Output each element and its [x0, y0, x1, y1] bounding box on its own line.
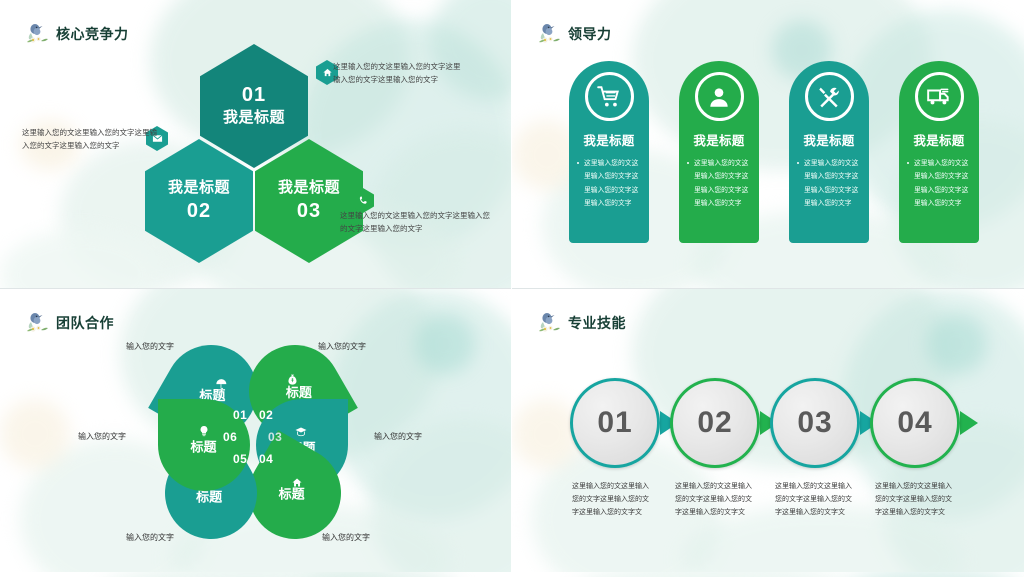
hexagon-01-number: 01 — [242, 85, 266, 106]
step-number-03: 03 — [797, 406, 832, 440]
slide-title-text: 团队合作 — [56, 313, 114, 333]
slide-team-cooperation[interactable]: 团队合作 标题 标题 标题 — [0, 289, 512, 577]
user-icon — [695, 72, 744, 121]
step-number-04: 04 — [897, 406, 932, 440]
hexagon-02-number: 02 — [187, 201, 211, 222]
step-number-02: 02 — [697, 406, 732, 440]
shopping-cart-icon — [585, 72, 634, 121]
petal-06-label: 标题 — [191, 436, 217, 455]
slide-title-team-cooperation: 团队合作 — [24, 311, 114, 335]
step-circle-03[interactable]: 03 — [770, 378, 860, 468]
graduation-cap-icon — [295, 425, 307, 437]
leadership-card-4-body: 这里输入您的文这里输入您的文字这里输入您的文字这里输入您的文字 — [907, 157, 971, 210]
leadership-card-2-body: 这里输入您的文这里输入您的文字这里输入您的文字这里输入您的文字 — [687, 157, 751, 210]
leadership-card-1-body: 这里输入您的文这里输入您的文字这里输入您的文字这里输入您的文字 — [577, 157, 641, 210]
step-circle-02[interactable]: 02 — [670, 378, 760, 468]
petal-num-01: 01 — [233, 408, 247, 422]
slide-title-text: 领导力 — [568, 24, 612, 44]
slide-thumbnail-grid: 核心竞争力 01 我是标题 我是标题 02 我是标题 03 — [0, 0, 1024, 577]
lightbulb-icon — [198, 424, 210, 436]
leadership-card-2[interactable]: 我是标题 这里输入您的文这里输入您的文字这里输入您的文字这里输入您的文字 — [679, 61, 759, 243]
leadership-card-4-title: 我是标题 — [913, 130, 964, 149]
petal-num-03: 03 — [268, 430, 282, 444]
slide-title-leadership: 领导力 — [536, 22, 612, 46]
petal-02-label: 标题 — [286, 382, 312, 401]
petal-num-05: 05 — [233, 452, 247, 466]
slide-next-row-left[interactable] — [0, 572, 512, 577]
leadership-card-3-title: 我是标题 — [803, 130, 854, 149]
step-text-01: 这里输入您的文这里输入您的文字这里输入您的文字这里输入您的文字文 — [572, 481, 650, 520]
hexagon-03-number: 03 — [297, 201, 321, 222]
column-divider — [511, 0, 512, 577]
slide-next-row-right[interactable] — [512, 572, 1024, 577]
hexagon-02-label: 我是标题 — [168, 180, 230, 197]
step-circle-01[interactable]: 01 — [570, 378, 660, 468]
leadership-card-3[interactable]: 我是标题 这里输入您的文这里输入您的文字这里输入您的文字这里输入您的文字 — [789, 61, 869, 243]
petal-num-04: 04 — [259, 452, 273, 466]
watercolor-background — [0, 572, 512, 577]
hexagon-01-label: 我是标题 — [223, 110, 285, 127]
petal-flower-diagram: 标题 标题 标题 标题 — [152, 341, 362, 531]
bird-flower-icon — [24, 311, 50, 335]
leadership-card-1-title: 我是标题 — [583, 130, 634, 149]
outer-label-1: 输入您的文字 — [126, 341, 174, 352]
row-divider — [0, 288, 1024, 289]
hexagon-03-label: 我是标题 — [278, 180, 340, 197]
delivery-truck-icon — [915, 72, 964, 121]
outer-label-3: 输入您的文字 — [374, 431, 422, 442]
outer-label-4: 输入您的文字 — [322, 532, 370, 543]
step-text-02: 这里输入您的文这里输入您的文字这里输入您的文字这里输入您的文字文 — [675, 481, 753, 520]
step-circle-04[interactable]: 04 — [870, 378, 960, 468]
callout-text-top-right: 这里输入您的文这里输入您的文字这里输入您的文字这里输入您的文字 — [333, 60, 463, 86]
callout-text-bottom-right: 这里输入您的文这里输入您的文字这里输入您的文字这里输入您的文字 — [340, 209, 490, 235]
petal-num-02: 02 — [259, 408, 273, 422]
leadership-card-2-title: 我是标题 — [693, 130, 744, 149]
leadership-card-3-body: 这里输入您的文这里输入您的文字这里输入您的文字这里输入您的文字 — [797, 157, 861, 210]
petal-04-label: 标题 — [278, 484, 304, 503]
slide-core-competitiveness[interactable]: 核心竞争力 01 我是标题 我是标题 02 我是标题 03 — [0, 0, 512, 288]
slide-professional-skills[interactable]: 专业技能 01 02 03 04 这里输入您的文这里输入您的文字这里输入您的文字… — [512, 289, 1024, 577]
tools-icon — [805, 72, 854, 121]
bird-flower-icon — [536, 22, 562, 46]
slide-leadership[interactable]: 领导力 我是标题 这里输入您的文这里输入您的文字这里输入您的文字这里输入您的文字… — [512, 0, 1024, 288]
step-text-04: 这里输入您的文这里输入您的文字这里输入您的文字这里输入您的文字文 — [875, 481, 953, 520]
leadership-card-4[interactable]: 我是标题 这里输入您的文这里输入您的文字这里输入您的文字这里输入您的文字 — [899, 61, 979, 243]
step-text-03: 这里输入您的文这里输入您的文字这里输入您的文字这里输入您的文字文 — [775, 481, 853, 520]
watercolor-background — [512, 572, 1024, 577]
outer-label-2: 输入您的文字 — [318, 341, 366, 352]
petal-num-06: 06 — [223, 430, 237, 444]
step-number-01: 01 — [597, 406, 632, 440]
outer-label-6: 输入您的文字 — [78, 431, 126, 442]
outer-label-5: 输入您的文字 — [126, 532, 174, 543]
leadership-card-1[interactable]: 我是标题 这里输入您的文这里输入您的文字这里输入您的文字这里输入您的文字 — [569, 61, 649, 243]
callout-text-mid-left: 这里输入您的文这里输入您的文字这里输入您的文字这里输入您的文字 — [22, 126, 162, 152]
